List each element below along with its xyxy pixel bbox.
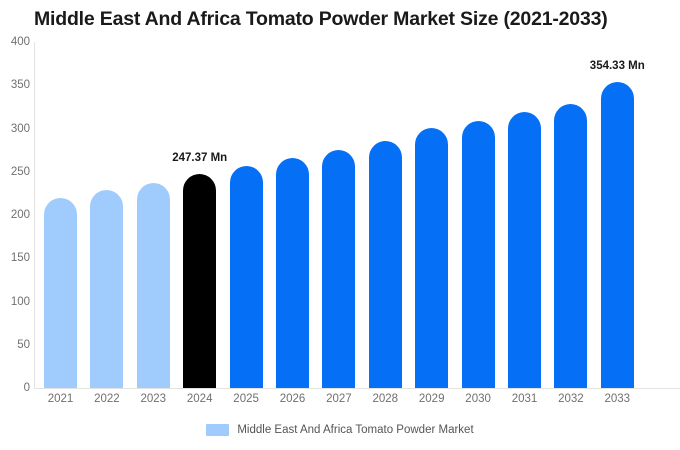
bar[interactable] bbox=[554, 104, 587, 388]
bar[interactable] bbox=[508, 112, 541, 388]
y-axis: 050100150200250300350400 bbox=[0, 42, 30, 388]
bar-group[interactable] bbox=[554, 42, 587, 388]
bar-group[interactable] bbox=[369, 42, 402, 388]
bar-group[interactable] bbox=[44, 42, 77, 388]
bar[interactable] bbox=[44, 198, 77, 388]
bar-group[interactable] bbox=[322, 42, 355, 388]
y-axis-tick-label: 200 bbox=[0, 209, 30, 221]
bar[interactable] bbox=[276, 158, 309, 388]
x-axis-tick-label: 2026 bbox=[280, 393, 306, 405]
legend-label: Middle East And Africa Tomato Powder Mar… bbox=[237, 424, 473, 436]
x-axis-tick-label: 2031 bbox=[512, 393, 538, 405]
bar[interactable] bbox=[183, 174, 216, 388]
bar-group[interactable] bbox=[137, 42, 170, 388]
y-axis-tick-label: 150 bbox=[0, 252, 30, 264]
legend-swatch bbox=[206, 424, 229, 436]
x-axis-tick-label: 2023 bbox=[141, 393, 167, 405]
bars-layer: 247.37 Mn354.33 Mn bbox=[34, 42, 680, 388]
y-axis-tick-label: 250 bbox=[0, 166, 30, 178]
bar-group[interactable] bbox=[276, 42, 309, 388]
x-axis-tick-label: 2028 bbox=[373, 393, 399, 405]
bar[interactable] bbox=[230, 166, 263, 388]
y-axis-tick-label: 100 bbox=[0, 296, 30, 308]
x-axis: 2021202220232024202520262027202820292030… bbox=[34, 389, 680, 411]
plot-area: 247.37 Mn354.33 Mn bbox=[34, 42, 680, 388]
chart-legend: Middle East And Africa Tomato Powder Mar… bbox=[0, 424, 680, 436]
x-axis-tick-label: 2021 bbox=[48, 393, 74, 405]
x-axis-tick-label: 2027 bbox=[326, 393, 352, 405]
bar-group[interactable] bbox=[183, 42, 216, 388]
y-axis-tick-label: 50 bbox=[0, 339, 30, 351]
bar[interactable] bbox=[90, 190, 123, 388]
bar[interactable] bbox=[462, 121, 495, 388]
bar-group[interactable] bbox=[508, 42, 541, 388]
y-axis-tick-label: 0 bbox=[0, 382, 30, 394]
bar[interactable] bbox=[601, 82, 634, 388]
bar[interactable] bbox=[322, 150, 355, 388]
x-axis-tick-label: 2030 bbox=[465, 393, 491, 405]
bar-group[interactable] bbox=[415, 42, 448, 388]
x-axis-tick-label: 2022 bbox=[94, 393, 120, 405]
bar[interactable] bbox=[369, 141, 402, 388]
bar-group[interactable] bbox=[601, 42, 634, 388]
bar-value-label: 354.33 Mn bbox=[590, 60, 645, 72]
bar-group[interactable] bbox=[230, 42, 263, 388]
y-axis-tick-label: 350 bbox=[0, 79, 30, 91]
bar-group[interactable] bbox=[462, 42, 495, 388]
x-axis-tick-label: 2025 bbox=[233, 393, 259, 405]
y-axis-tick-label: 300 bbox=[0, 123, 30, 135]
bar-value-label: 247.37 Mn bbox=[172, 152, 227, 164]
bar[interactable] bbox=[137, 183, 170, 388]
page-title: Middle East And Africa Tomato Powder Mar… bbox=[34, 8, 608, 31]
bar[interactable] bbox=[415, 128, 448, 388]
x-axis-tick-label: 2033 bbox=[605, 393, 631, 405]
x-axis-tick-label: 2029 bbox=[419, 393, 445, 405]
y-axis-tick-label: 400 bbox=[0, 36, 30, 48]
x-axis-tick-label: 2032 bbox=[558, 393, 584, 405]
bar-group[interactable] bbox=[90, 42, 123, 388]
x-axis-tick-label: 2024 bbox=[187, 393, 213, 405]
bar-chart: Middle East And Africa Tomato Powder Mar… bbox=[0, 0, 680, 450]
